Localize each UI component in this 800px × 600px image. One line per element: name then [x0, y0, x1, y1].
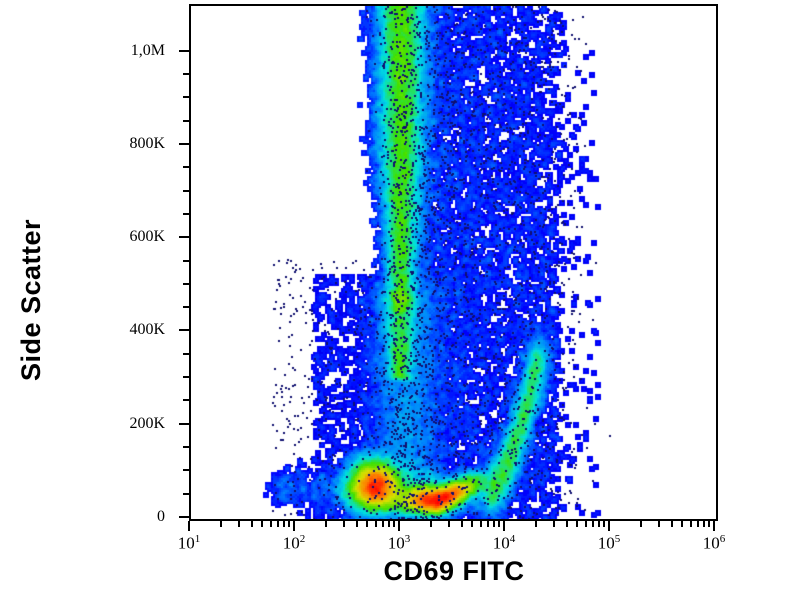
- x-tick-major: [293, 521, 295, 531]
- x-tick-label: 101: [178, 533, 201, 554]
- x-tick-minor: [690, 521, 692, 527]
- y-tick-major: [179, 423, 189, 425]
- x-tick-label: 103: [388, 533, 411, 554]
- x-tick-label: 104: [493, 533, 516, 554]
- y-tick-major: [179, 50, 189, 52]
- x-tick-major: [713, 521, 715, 531]
- x-tick-minor: [375, 521, 377, 527]
- y-axis-ticks: 0200K400K600K800K1,0M: [169, 0, 189, 600]
- y-tick-major: [179, 143, 189, 145]
- x-tick-minor: [388, 521, 390, 527]
- x-tick-label: 105: [598, 533, 621, 554]
- y-tick-major: [179, 236, 189, 238]
- x-tick-minor: [708, 521, 710, 527]
- x-tick-minor: [703, 521, 705, 527]
- x-tick-minor: [430, 521, 432, 527]
- x-tick-minor: [461, 521, 463, 527]
- x-tick-minor: [553, 521, 555, 527]
- x-tick-minor: [487, 521, 489, 527]
- y-axis-title-text: Side Scatter: [16, 219, 47, 381]
- x-tick-major: [398, 521, 400, 531]
- x-tick-minor: [356, 521, 358, 527]
- x-tick-minor: [220, 521, 222, 527]
- x-tick-minor: [288, 521, 290, 527]
- x-tick-minor: [658, 521, 660, 527]
- x-axis-ticks: 101102103104105106: [189, 521, 720, 561]
- x-tick-minor: [251, 521, 253, 527]
- x-tick-minor: [382, 521, 384, 527]
- x-tick-minor: [480, 521, 482, 527]
- y-tick-label: 200K: [129, 415, 165, 433]
- x-tick-label: 106: [703, 533, 726, 554]
- x-tick-minor: [277, 521, 279, 527]
- x-tick-minor: [671, 521, 673, 527]
- y-tick-major: [179, 329, 189, 331]
- x-axis-title: CD69 FITC: [189, 556, 719, 587]
- y-tick-label: 0: [157, 508, 165, 526]
- x-tick-minor: [535, 521, 537, 527]
- x-tick-minor: [393, 521, 395, 527]
- y-axis-title: Side Scatter: [46, 0, 92, 600]
- x-tick-minor: [448, 521, 450, 527]
- x-tick-minor: [640, 521, 642, 527]
- y-tick-label: 800K: [129, 135, 165, 153]
- scatter-density-canvas: [191, 6, 716, 519]
- x-tick-major: [188, 521, 190, 531]
- x-tick-minor: [585, 521, 587, 527]
- y-tick-label: 1,0M: [131, 42, 165, 60]
- x-tick-minor: [498, 521, 500, 527]
- x-tick-minor: [681, 521, 683, 527]
- x-tick-minor: [270, 521, 272, 527]
- y-tick-label: 600K: [129, 228, 165, 246]
- x-tick-minor: [325, 521, 327, 527]
- x-tick-minor: [576, 521, 578, 527]
- x-tick-minor: [493, 521, 495, 527]
- x-tick-major: [608, 521, 610, 531]
- x-tick-minor: [283, 521, 285, 527]
- x-tick-minor: [366, 521, 368, 527]
- x-tick-minor: [603, 521, 605, 527]
- flow-cytometry-figure: Side Scatter 0200K400K600K800K1,0M 10110…: [0, 0, 800, 600]
- y-tick-major: [179, 516, 189, 518]
- x-tick-minor: [592, 521, 594, 527]
- x-tick-minor: [566, 521, 568, 527]
- x-tick-minor: [261, 521, 263, 527]
- x-tick-minor: [598, 521, 600, 527]
- x-tick-major: [503, 521, 505, 531]
- x-tick-minor: [697, 521, 699, 527]
- x-tick-minor: [471, 521, 473, 527]
- x-tick-minor: [238, 521, 240, 527]
- y-tick-label: 400K: [129, 321, 165, 339]
- x-tick-minor: [343, 521, 345, 527]
- plot-area: [189, 4, 718, 521]
- x-tick-label: 102: [283, 533, 306, 554]
